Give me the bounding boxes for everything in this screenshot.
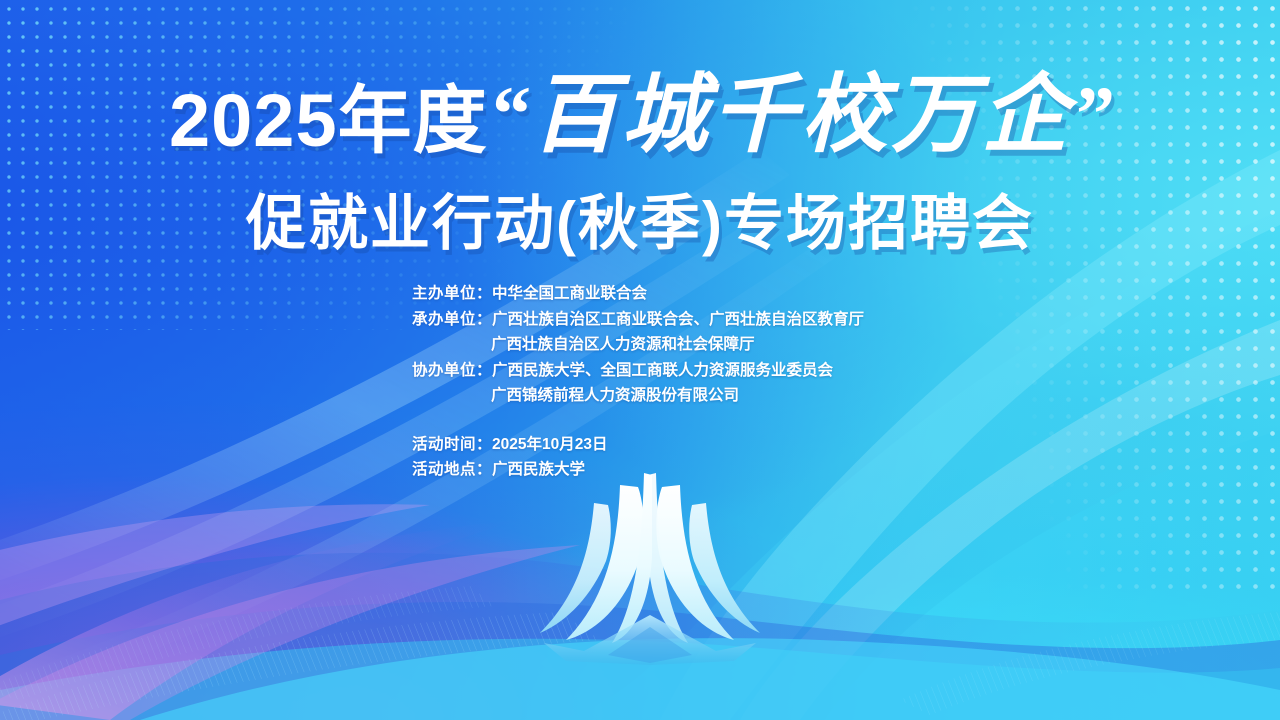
host-label: 主办单位： — [412, 285, 492, 302]
host-value: 中华全国工商业联合会 — [492, 285, 647, 302]
coorganizer-row: 协办单位：广西民族大学、全国工商联人力资源服务业委员会 — [412, 358, 932, 384]
coorganizer-value-2: 广西锦绣前程人力资源股份有限公司 — [491, 387, 739, 404]
page-subtitle: 促就业行动(秋季)专场招聘会 — [0, 175, 1280, 262]
event-time-value: 2025年10月23日 — [492, 436, 607, 453]
organizer-label: 承办单位： — [412, 311, 492, 328]
organizer-value-2: 广西壮族自治区人力资源和社会保障厅 — [491, 336, 755, 353]
event-info-block: 主办单位：中华全国工商业联合会 承办单位：广西壮族自治区工商业联合会、广西壮族自… — [412, 281, 932, 483]
organizer-value: 广西壮族自治区工商业联合会、广西壮族自治区教育厅 — [492, 311, 864, 328]
organizer-row: 承办单位：广西壮族自治区工商业联合会、广西壮族自治区教育厅 — [412, 307, 932, 333]
event-time-label: 活动时间： — [412, 436, 492, 453]
event-place-row: 活动地点：广西民族大学 — [412, 457, 932, 483]
event-banner: 2025年度 “ 百城千校万企 ” 促就业行动(秋季)专场招聘会 主办单位：中华… — [0, 0, 1280, 720]
title-year: 2025年度 — [169, 79, 488, 162]
event-place-value: 广西民族大学 — [492, 461, 585, 478]
host-row: 主办单位：中华全国工商业联合会 — [412, 281, 932, 307]
title-slogan: 百城千校万企 — [532, 64, 1072, 165]
coorganizer-row-2: 广西锦绣前程人力资源股份有限公司 — [412, 383, 932, 409]
coorganizer-label: 协办单位： — [412, 362, 492, 379]
page-title: 2025年度 “ 百城千校万企 ” — [0, 72, 1280, 158]
quote-open-mark: “ — [492, 70, 527, 157]
quote-close-mark: ” — [1076, 70, 1111, 157]
coorganizer-value: 广西民族大学、全国工商联人力资源服务业委员会 — [492, 362, 833, 379]
info-spacer — [412, 409, 932, 432]
organizer-row-2: 广西壮族自治区人力资源和社会保障厅 — [412, 332, 932, 358]
event-time-row: 活动时间：2025年10月23日 — [412, 432, 932, 458]
event-place-label: 活动地点： — [412, 461, 492, 478]
